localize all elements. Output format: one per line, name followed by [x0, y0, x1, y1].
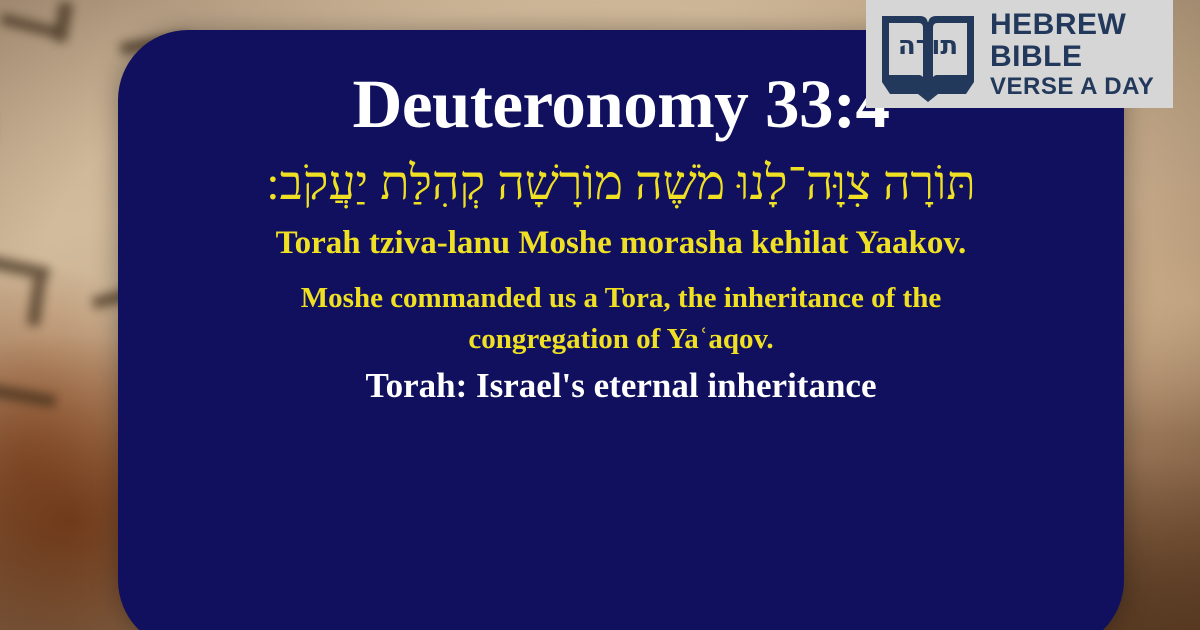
hebrew-verse-text: תּוֹרָה צִוָּה־לָנוּ מֹשֶׁה מוֹרָשָׁה קְ…	[144, 153, 1098, 214]
book-hebrew-word: תורה	[898, 31, 958, 61]
english-translation-text: Moshe commanded us a Tora, the inheritan…	[144, 278, 1098, 359]
brand-wordmark: HEBREW BIBLE VERSE A DAY	[990, 10, 1154, 99]
verse-summary-text: Torah: Israel's eternal inheritance	[144, 365, 1098, 407]
open-book-icon: תורה	[876, 6, 980, 102]
verse-card: Deuteronomy 33:4 תּוֹרָה צִוָּה־לָנוּ מֹ…	[118, 30, 1124, 630]
brand-line-bible: BIBLE	[990, 42, 1154, 72]
brand-line-verse-a-day: VERSE A DAY	[990, 75, 1154, 99]
brand-line-hebrew: HEBREW	[990, 10, 1154, 40]
transliteration-text: Torah tziva-lanu Moshe morasha kehilat Y…	[144, 222, 1098, 266]
brand-logo: תורה HEBREW BIBLE VERSE A DAY	[866, 0, 1173, 108]
verse-graphic: Deuteronomy 33:4 תּוֹרָה צִוָּה־לָנוּ מֹ…	[0, 0, 1200, 630]
